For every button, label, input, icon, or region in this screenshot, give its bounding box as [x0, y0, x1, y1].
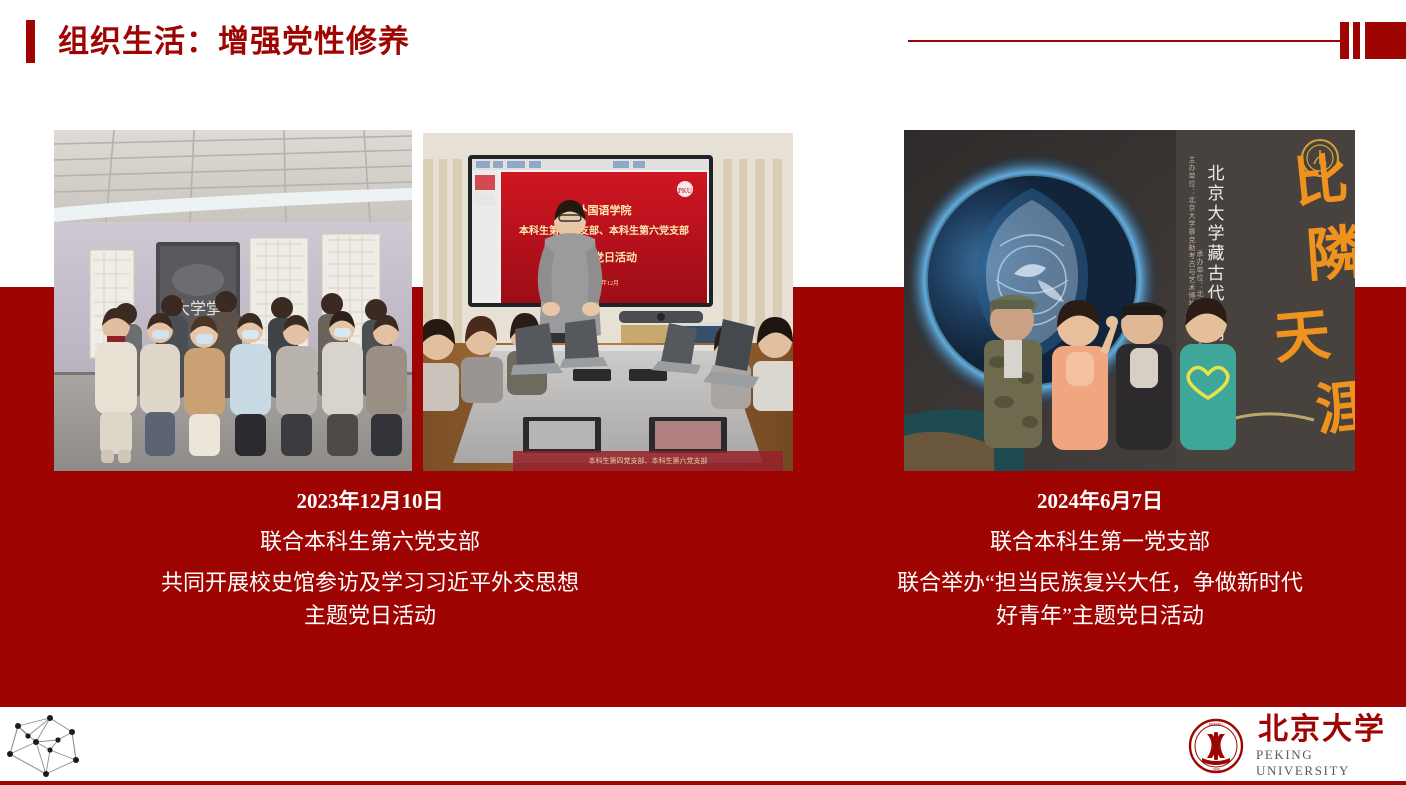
network-node-graph-decoration	[6, 712, 92, 780]
page-title: 组织生活：增强党性修养	[58, 20, 410, 64]
caption-right-organization: 联合本科生第一党支部	[840, 518, 1360, 566]
svg-text:PEKING: PEKING	[1209, 722, 1224, 727]
header-decoration-bar-1	[1340, 22, 1349, 59]
svg-text:主办单位：北京大学赛克勒考古与艺术博物馆: 主办单位：北京大学赛克勒考古与艺术博物馆	[1188, 155, 1196, 316]
caption-right: 2024年6月7日 联合本科生第一党支部 联合举办“担当民族复兴大任，争做新时代…	[840, 484, 1360, 632]
photo-2-illustration: PKU 外国语学院 本科生第四党支部、本科生第六党支部 联合党日活动 2023年…	[423, 133, 793, 471]
footer-divider-line	[0, 781, 1406, 785]
photo-joint-party-day-meeting: PKU 外国语学院 本科生第四党支部、本科生第六党支部 联合党日活动 2023年…	[423, 133, 793, 471]
photo-campus-history-museum: 大学堂	[54, 130, 412, 471]
pku-logo-chinese: 北京大学	[1258, 713, 1386, 747]
svg-text:隣: 隣	[1304, 220, 1355, 289]
title-accent-bar	[26, 20, 35, 63]
header-divider-line	[908, 40, 1345, 42]
caption-left-description-line1: 共同开展校史馆参访及学习习近平外交思想	[60, 566, 680, 599]
photo-ceramics-exhibition: 北京大学藏古代外销瓷特展 主办单位：北京大学赛克勒考古与艺术博物馆 承办单位：北…	[904, 130, 1355, 471]
caption-left-organization: 联合本科生第六党支部	[60, 518, 680, 566]
pku-wordmark: 北京大学 PEKING UNIVERSITY	[1256, 713, 1388, 779]
caption-right-date: 2024年6月7日	[840, 484, 1360, 518]
svg-text:本科生第四党支部、本科生第六党支部: 本科生第四党支部、本科生第六党支部	[589, 456, 708, 465]
svg-text:PKU: PKU	[678, 187, 692, 195]
photo-1-illustration: 大学堂	[54, 130, 412, 471]
pku-logo: PEKING 1898 北京大学 PEKING UNIVERSITY	[1188, 715, 1388, 777]
pku-logo-english: PEKING UNIVERSITY	[1256, 747, 1388, 779]
caption-left-description-line2: 主题党日活动	[60, 599, 680, 632]
svg-text:天: 天	[1272, 304, 1333, 371]
caption-left: 2023年12月10日 联合本科生第六党支部 共同开展校史馆参访及学习习近平外交…	[60, 484, 680, 632]
photo-3-illustration: 北京大学藏古代外销瓷特展 主办单位：北京大学赛克勒考古与艺术博物馆 承办单位：北…	[904, 130, 1355, 471]
svg-text:本科生第四党支部、本科生第六党支部: 本科生第四党支部、本科生第六党支部	[519, 224, 689, 237]
svg-text:1898: 1898	[1212, 767, 1220, 772]
caption-left-date: 2023年12月10日	[60, 484, 680, 518]
svg-text:涯: 涯	[1313, 375, 1355, 443]
caption-right-description-line2: 好青年”主题党日活动	[840, 599, 1360, 632]
svg-text:比: 比	[1291, 149, 1351, 214]
pku-seal-icon: PEKING 1898	[1188, 718, 1244, 774]
header-decoration-block	[1365, 22, 1406, 59]
caption-right-description-line1: 联合举办“担当民族复兴大任，争做新时代	[840, 566, 1360, 599]
header-decoration-bar-2	[1353, 22, 1360, 59]
